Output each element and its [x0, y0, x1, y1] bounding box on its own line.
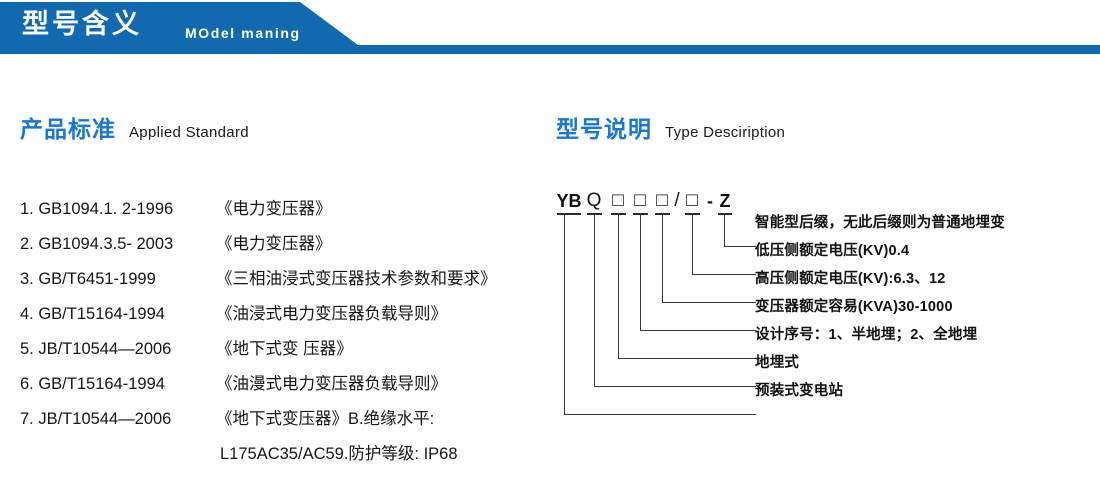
standards-list: 1. GB1094.1. 2-1996 《电力变压器》 2. GB1094.3.…: [20, 192, 560, 472]
standard-code: 1. GB1094.1. 2-1996: [20, 192, 216, 227]
standard-code: 6. GB/T15164-1994: [20, 367, 216, 402]
standard-code: 4. GB/T15164-1994: [20, 297, 216, 332]
code-char-box-1: □: [610, 190, 626, 212]
code-char-yb: YB: [556, 190, 582, 212]
code-char-box-4: □: [684, 190, 700, 212]
code-char-z: Z: [718, 190, 732, 212]
standard-name: 《油漫式电力变压器负载导则》: [216, 367, 447, 402]
type-heading-en: Type Desciription: [665, 124, 785, 141]
legend-label-substation: 预装式变电站: [755, 382, 843, 400]
standard-code: 5. JB/T10544—2006: [20, 332, 216, 367]
type-heading-cn: 型号说明: [556, 116, 652, 142]
code-char-box-2: □: [632, 190, 648, 212]
list-item: 7. JB/T10544—2006 《地下式变压器》B.绝缘水平:: [20, 402, 560, 437]
standards-heading-en: Applied Standard: [129, 124, 249, 141]
standard-name: 《三相油浸式变压器技术参数和要求》: [216, 262, 497, 297]
list-item: 1. GB1094.1. 2-1996 《电力变压器》: [20, 192, 560, 227]
code-char-q: Q: [586, 190, 602, 212]
list-item: 6. GB/T15164-1994 《油漫式电力变压器负载导则》: [20, 367, 560, 402]
standard-code: 3. GB/T6451-1999: [20, 262, 216, 297]
legend-label-buried-type: 地埋式: [755, 354, 799, 372]
legend-label-hv-voltage: 高压侧额定电压(KV):6.3、12: [755, 270, 946, 288]
standard-name: 《地下式变压器》B.绝缘水平:: [216, 402, 434, 437]
page-title: 型号含义: [22, 8, 142, 41]
type-code-diagram: YB Q □ □ □ / □ - Z 智能型后缀，无此后缀则为普通地埋变 低压侧…: [556, 190, 1090, 440]
standards-heading-cn: 产品标准: [20, 116, 116, 142]
list-item: 5. JB/T10544—2006 《地下式变 压器》: [20, 332, 560, 367]
legend-label-smart-suffix: 智能型后缀，无此后缀则为普通地埋变: [755, 214, 1005, 232]
standard-name: 《电力变压器》: [216, 227, 332, 262]
standard-code: 2. GB1094.3.5- 2003: [20, 227, 216, 262]
list-item: 2. GB1094.3.5- 2003 《电力变压器》: [20, 227, 560, 262]
legend-label-design-serial: 设计序号：1、半地埋；2、全地埋: [755, 326, 977, 344]
legend-label-rated-capacity: 变压器额定容易(KVA)30-1000: [755, 298, 953, 316]
standard-continuation-line: L175AC35/AC59.防护等级: IP68: [20, 437, 560, 472]
leader-line-1: [724, 214, 756, 247]
list-item: 4. GB/T15164-1994 《油浸式电力变压器负载导则》: [20, 297, 560, 332]
page-subtitle: MOdel maning: [185, 24, 301, 42]
code-char-box-3: □: [654, 190, 670, 212]
list-item: 3. GB/T6451-1999 《三相油浸式变压器技术参数和要求》: [20, 262, 560, 297]
standard-name: 《地下式变 压器》: [216, 332, 353, 367]
standard-name: 《油浸式电力变压器负载导则》: [216, 297, 447, 332]
standards-section-heading: 产品标准Applied Standard: [20, 110, 249, 144]
code-char-dash: -: [704, 190, 716, 212]
code-char-slash: /: [672, 190, 682, 212]
type-section-heading: 型号说明Type Desciription: [556, 110, 785, 144]
page-header-banner: 型号含义 MOdel maning: [0, 0, 1100, 54]
standard-name: 《电力变压器》: [216, 192, 332, 227]
legend-label-lv-voltage: 低压侧额定电压(KV)0.4: [755, 242, 909, 260]
standard-code: 7. JB/T10544—2006: [20, 402, 216, 437]
